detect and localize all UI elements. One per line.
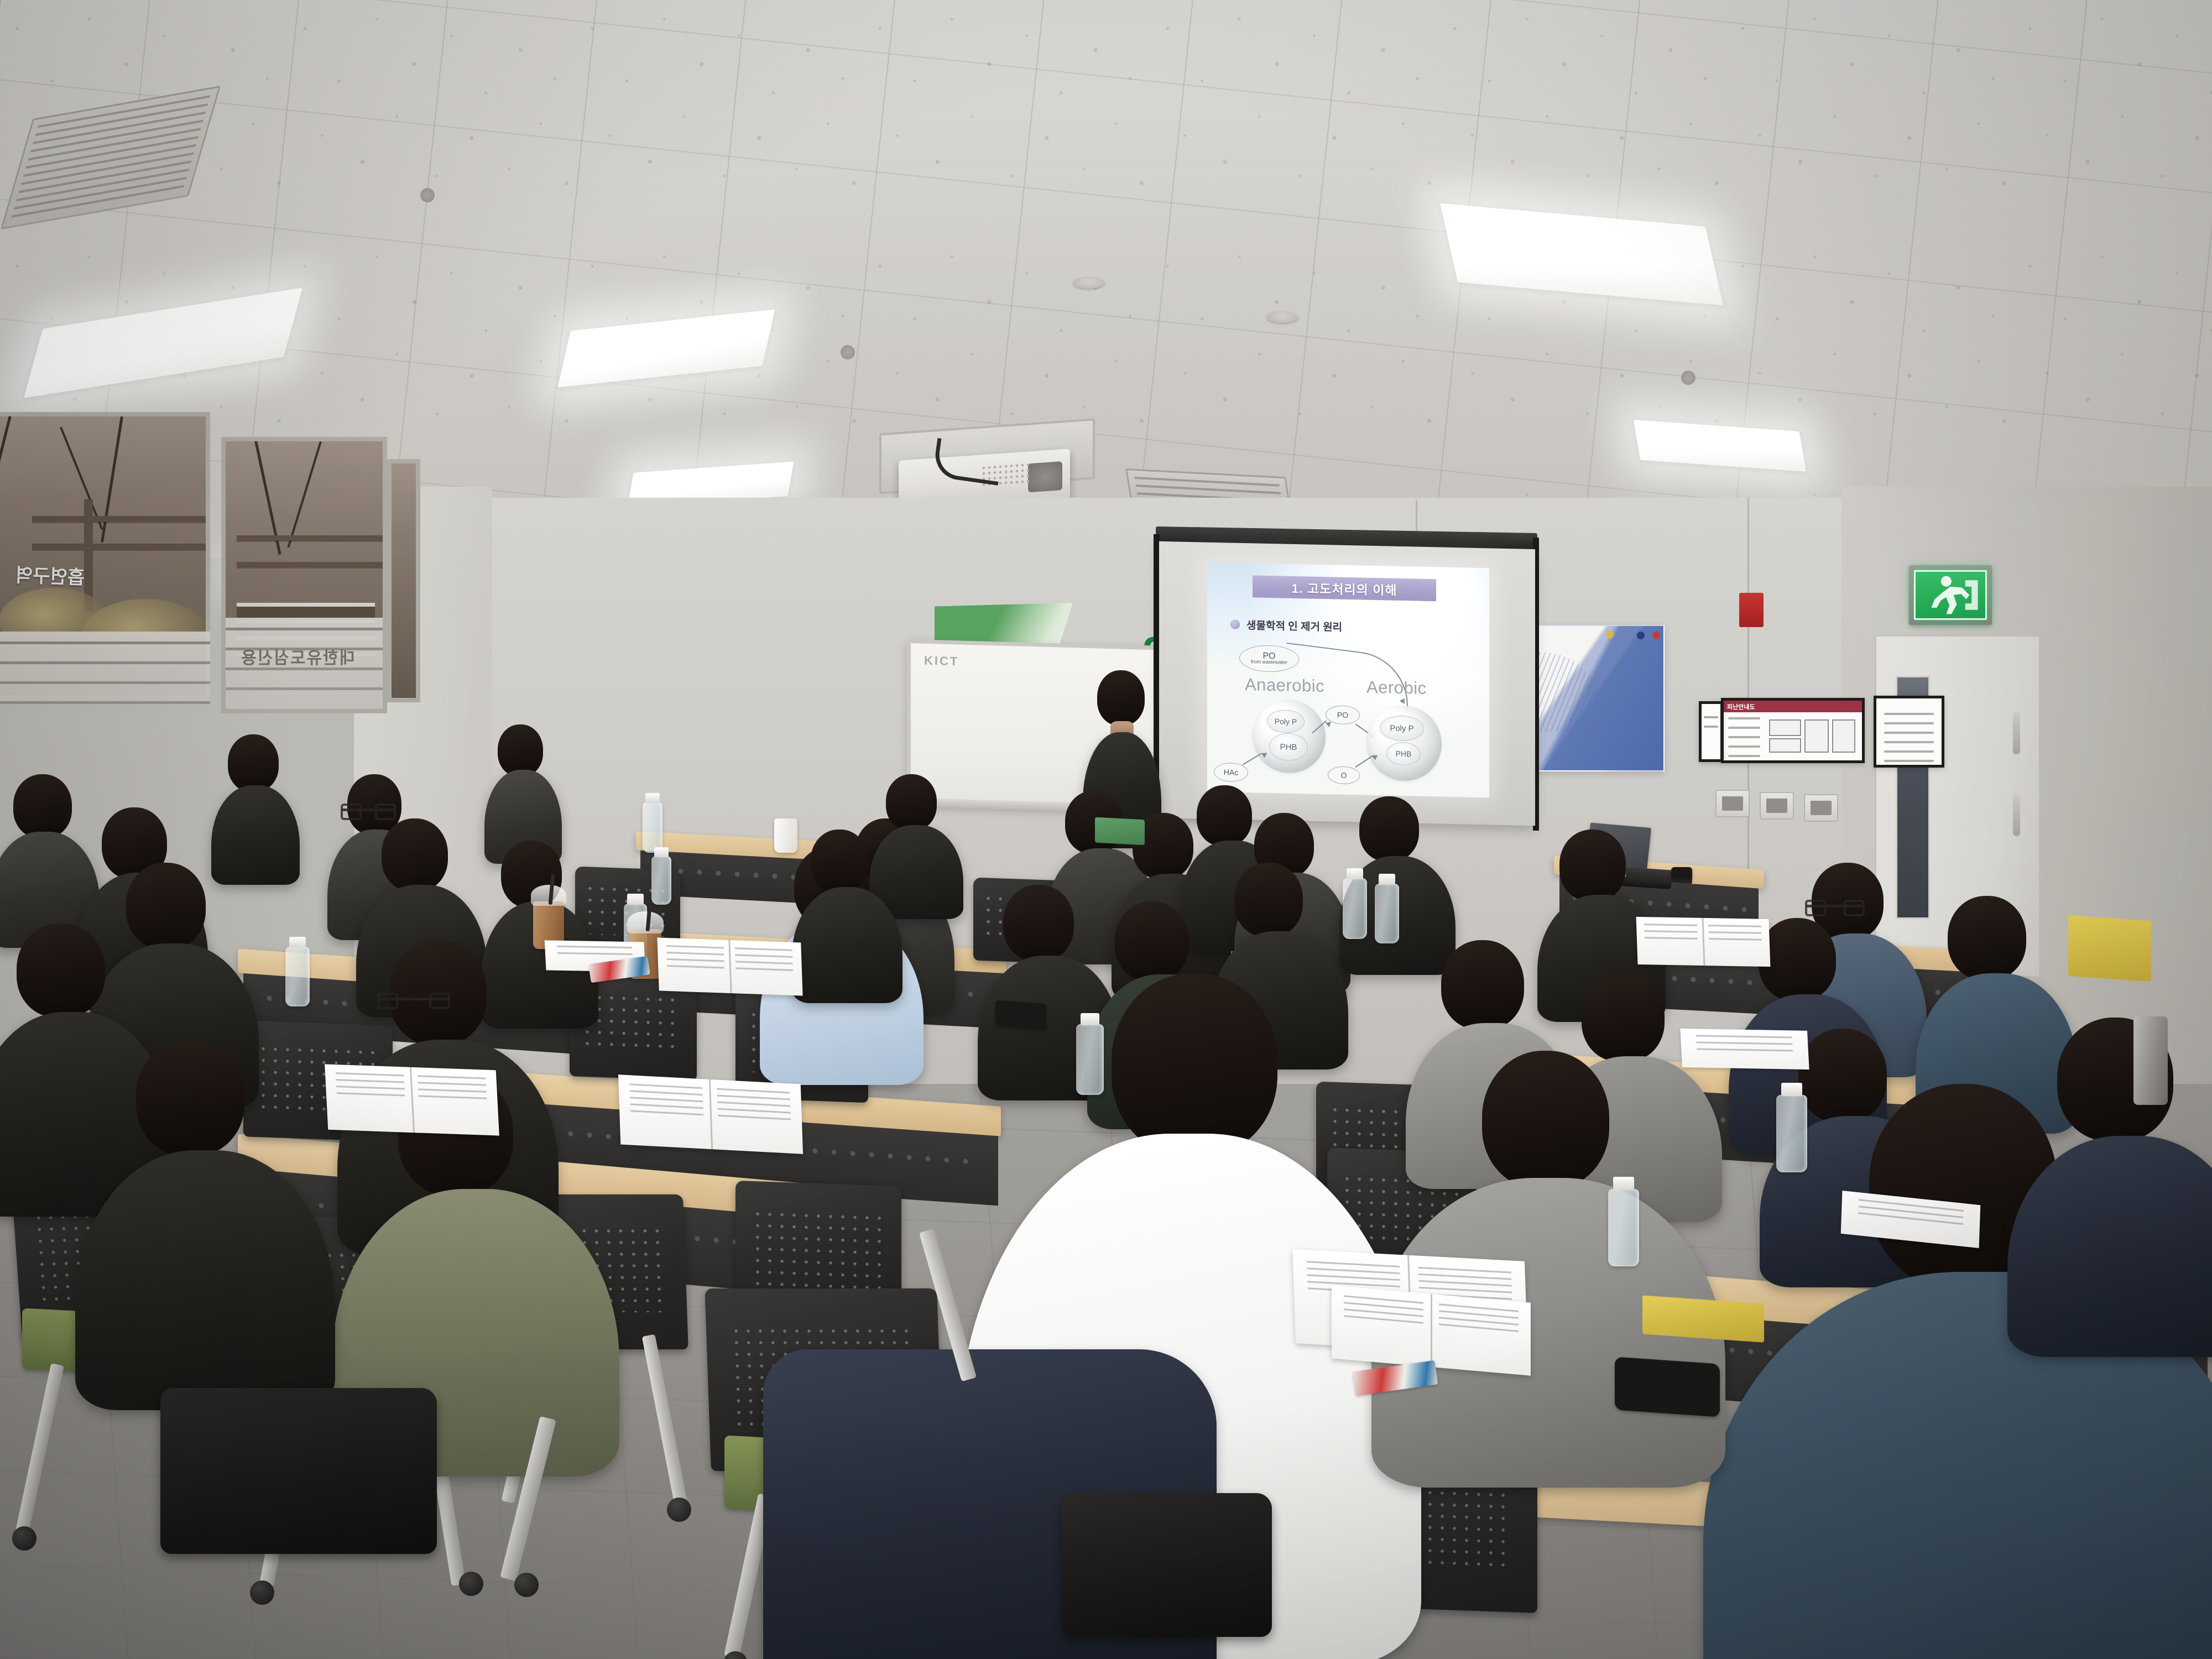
head xyxy=(1441,940,1524,1030)
handout-lines xyxy=(557,945,633,959)
poster-header-band: 피난안내도 xyxy=(1724,701,1862,712)
head xyxy=(498,724,543,776)
green-storage-crate[interactable] xyxy=(1095,817,1145,846)
handout-lines xyxy=(1708,925,1762,946)
eyeglasses xyxy=(378,998,449,1000)
sprinkler-head xyxy=(1681,371,1695,385)
diagram-label-anaerobic: Anaerobic xyxy=(1245,675,1324,696)
smoke-detector xyxy=(1073,276,1105,289)
floorplan-room-box xyxy=(1769,738,1801,753)
node-label-po4-sub: from wastewater xyxy=(1251,659,1287,665)
attendee xyxy=(2024,1018,2212,1327)
exit-sign-face xyxy=(1914,570,1987,620)
outdoor-deck-railing xyxy=(237,562,383,567)
open-handout-booklet[interactable] xyxy=(1636,917,1771,967)
window-frosted-band: 대한유도심신용 xyxy=(226,618,383,709)
bullet-dot-icon xyxy=(1230,620,1240,629)
yellow-storage-crate[interactable] xyxy=(2068,915,2151,982)
eyeglasses xyxy=(1806,905,1864,907)
textbook-lines xyxy=(717,1088,791,1125)
chair-perforation xyxy=(755,1212,881,1291)
head xyxy=(1003,885,1074,961)
eyeglasses-case[interactable] xyxy=(1615,1357,1720,1417)
chair-caster xyxy=(250,1580,274,1605)
textbook-lines xyxy=(629,1083,703,1120)
bottle-cap xyxy=(1081,1013,1099,1025)
handout-lines xyxy=(1695,1035,1793,1057)
handout-lines xyxy=(735,948,794,977)
mouse[interactable] xyxy=(1671,867,1692,879)
poster-header-text: 피난안내도 xyxy=(1724,701,1862,713)
outdoor-smoking-area-sign: 흡연구역 xyxy=(15,560,85,589)
window-decal-text: 대한유도심신용 xyxy=(240,644,354,669)
head xyxy=(1559,830,1626,901)
torso xyxy=(792,887,902,1003)
paper-cup[interactable] xyxy=(774,818,797,853)
slide-bullet-text: 생물학적 인 제거 원리 xyxy=(1246,617,1342,634)
tree-branch xyxy=(0,416,13,546)
handout-lines xyxy=(1439,1303,1519,1337)
window-far-pane xyxy=(387,459,420,702)
water-bottle[interactable] xyxy=(1076,1024,1104,1095)
head xyxy=(811,830,868,893)
slide-diagram: PO from wastewater Anaerobic Poly P PHB … xyxy=(1207,644,1489,795)
poster-pin xyxy=(1637,632,1645,639)
slide-bullet-row: 생물학적 인 제거 원리 xyxy=(1230,617,1342,634)
bottle-cap xyxy=(289,937,306,948)
thermos-flask[interactable] xyxy=(2133,1016,2168,1105)
diagram-label-aerobic: Aerobic xyxy=(1366,677,1427,698)
smartphone[interactable] xyxy=(995,1000,1046,1029)
whiteboard-logo: KICT xyxy=(924,654,959,669)
window-right-pane: 대한유도심신용 xyxy=(221,437,387,713)
bottle-cap xyxy=(645,793,660,803)
handout-lines xyxy=(1644,924,1698,945)
backpack-on-floor[interactable] xyxy=(1062,1493,1272,1637)
head xyxy=(1359,796,1419,862)
attendee xyxy=(0,774,88,940)
attendee xyxy=(796,830,896,995)
evacuation-floor-plan-poster: 피난안내도 xyxy=(1721,698,1865,763)
open-handout-booklet[interactable] xyxy=(657,937,802,995)
water-bottle[interactable] xyxy=(1776,1095,1807,1172)
notice-poster-lines xyxy=(1884,713,1934,768)
handout-sheet[interactable] xyxy=(1680,1029,1809,1070)
bottle-cap xyxy=(627,894,644,905)
chair-caster xyxy=(667,1498,691,1522)
door-handle[interactable] xyxy=(2013,712,2020,754)
poster-pin xyxy=(1652,632,1660,639)
water-bottle[interactable] xyxy=(1608,1189,1639,1266)
head saltpepper xyxy=(1948,896,2026,980)
wall-power-outlet[interactable] xyxy=(1804,794,1838,822)
tree-branch xyxy=(288,441,322,547)
wall-power-outlet[interactable] xyxy=(1715,790,1750,817)
head xyxy=(13,774,72,838)
slide-title-text: 1. 고도처리의 이해 xyxy=(1291,578,1397,599)
water-bottle[interactable] xyxy=(285,947,310,1006)
chair-perforation xyxy=(585,995,682,1055)
projected-slide: 1. 고도처리의 이해 생물학적 인 제거 원리 PO from wastewa… xyxy=(1207,562,1489,798)
textbook-lines xyxy=(418,1075,487,1104)
open-textbook[interactable] xyxy=(325,1064,499,1135)
outdoor-deck-railing xyxy=(32,544,206,550)
head xyxy=(136,1040,244,1156)
diagram-node-hac: HAc xyxy=(1214,763,1248,782)
notice-poster-lines xyxy=(1704,716,1718,735)
bottle-cap xyxy=(1781,1083,1802,1096)
wall-power-outlet[interactable] xyxy=(1760,792,1794,820)
slide-title-band: 1. 고도처리의 이해 xyxy=(1253,575,1436,601)
tree-branch xyxy=(101,416,123,542)
water-bottle[interactable] xyxy=(643,802,662,853)
head xyxy=(382,818,448,891)
exit-sign xyxy=(1909,565,1992,625)
tree-branch xyxy=(60,427,103,530)
diagram-arrow-hac xyxy=(1242,753,1261,765)
head xyxy=(228,734,279,792)
handout-lines xyxy=(666,945,724,974)
shoulder-bag-on-floor[interactable] xyxy=(160,1388,437,1554)
floorplan-room-box xyxy=(1832,719,1855,753)
outdoor-deck-railing xyxy=(237,535,383,541)
torso xyxy=(75,1150,335,1410)
chair-caster xyxy=(459,1572,483,1596)
bottle-cap xyxy=(1347,868,1363,879)
head xyxy=(1582,973,1665,1062)
bottle-cap xyxy=(654,847,669,857)
attendee xyxy=(487,724,559,857)
water-bottle[interactable] xyxy=(1343,878,1367,939)
head xyxy=(1234,863,1303,937)
head xyxy=(1097,670,1145,726)
poster-pin xyxy=(1606,630,1614,638)
floorplan-room-box xyxy=(1804,719,1829,753)
head xyxy=(1112,973,1277,1156)
textbook-lines xyxy=(335,1072,405,1101)
attendee xyxy=(100,1040,310,1405)
diagram-node-phb-right: PHB xyxy=(1386,742,1421,765)
fire-alarm-box[interactable] xyxy=(1739,593,1764,627)
floorplan-room-box xyxy=(1769,719,1801,736)
eyeglasses xyxy=(342,808,395,811)
sprinkler-head xyxy=(841,345,855,359)
head xyxy=(1482,1051,1609,1189)
water-bottle[interactable] xyxy=(1375,884,1399,943)
head xyxy=(17,924,105,1018)
handout-lines xyxy=(1344,1295,1423,1329)
open-textbook[interactable] xyxy=(618,1074,803,1154)
window-lower-frost xyxy=(0,632,210,701)
chair-caster xyxy=(514,1573,539,1597)
outdoor-deck-railing xyxy=(32,516,206,522)
torso xyxy=(2007,1136,2212,1357)
bottle-cap xyxy=(1613,1177,1634,1190)
bottle-cap xyxy=(1379,874,1395,885)
classroom-photo-scene: 흡연구역 대한유도심신용 2 고도 처리 KICT 해 xyxy=(0,0,2212,1659)
head xyxy=(886,774,937,831)
notice-poster xyxy=(1874,696,1944,768)
smoke-detector xyxy=(1266,311,1298,323)
head xyxy=(1115,901,1189,981)
attendee xyxy=(216,734,293,878)
door-handle[interactable] xyxy=(2013,794,2020,836)
water-bottle[interactable] xyxy=(651,856,671,905)
window-glass xyxy=(392,463,416,698)
window-glass: 대한유도심신용 xyxy=(226,441,383,709)
chair-caster xyxy=(12,1526,36,1551)
diagram-node-phb-left: PHB xyxy=(1269,733,1308,761)
poster-legend-lines xyxy=(1728,717,1760,763)
diagram-node-o2: O xyxy=(1328,766,1360,784)
side-notice-poster xyxy=(1699,701,1723,762)
handout-lines xyxy=(1858,1199,1964,1230)
running-man-exit-icon xyxy=(1916,572,1985,618)
sprinkler-head xyxy=(420,188,435,202)
